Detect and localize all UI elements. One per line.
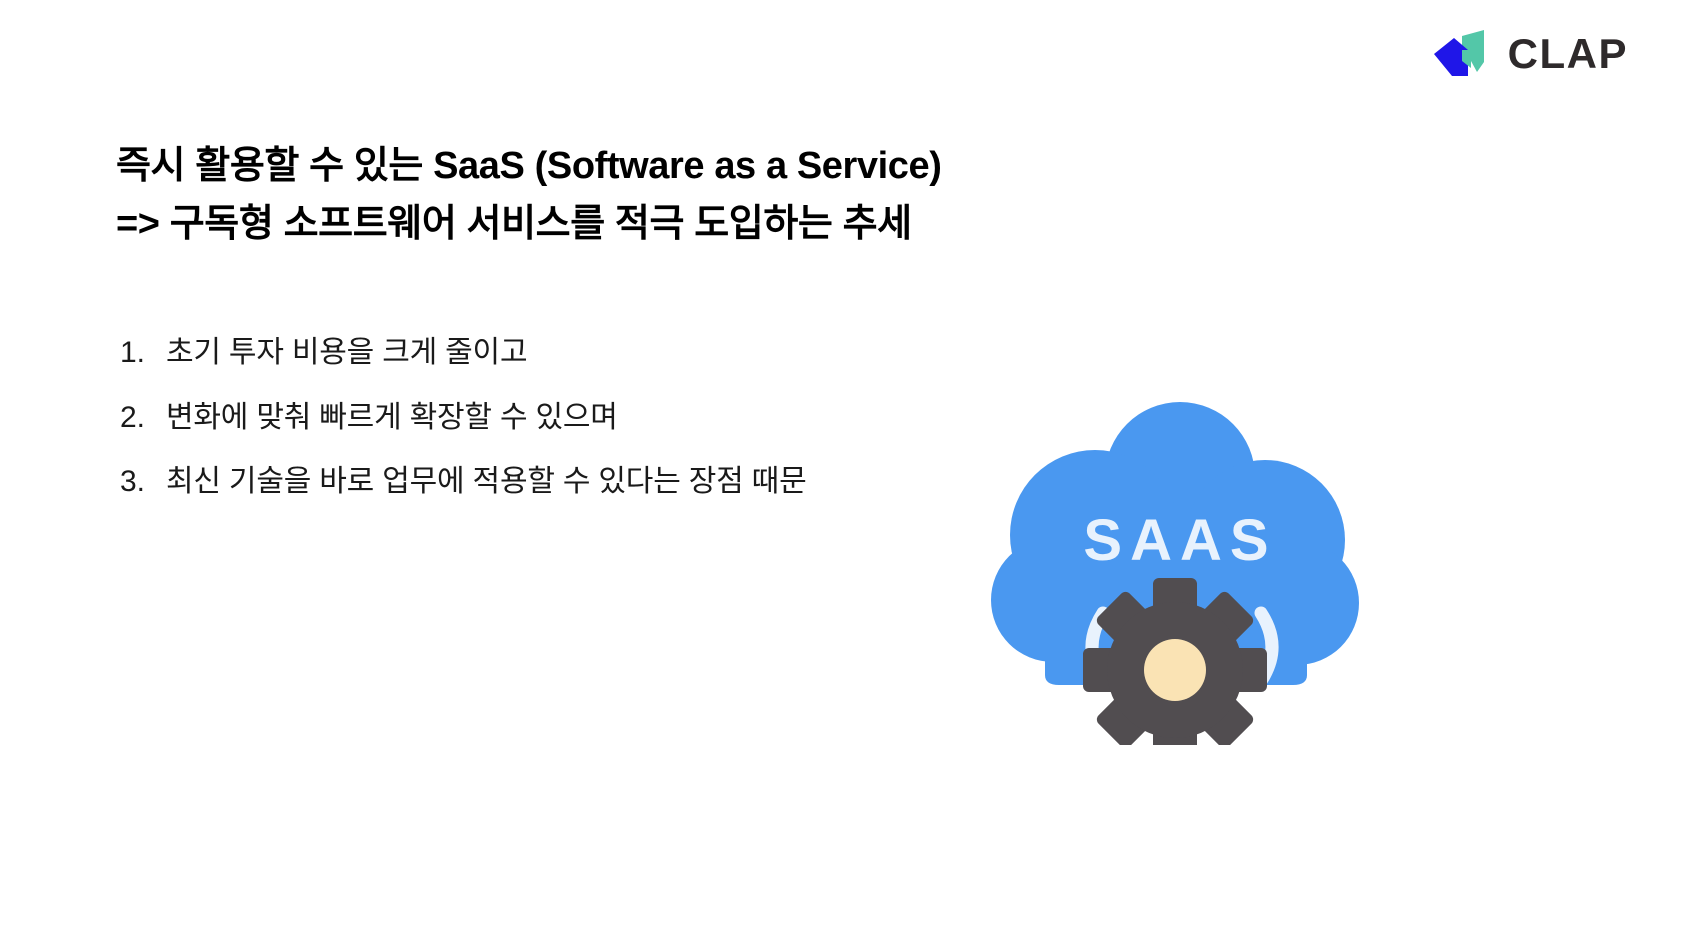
brand-name: CLAP — [1508, 33, 1628, 75]
list-item-number: 3. — [120, 461, 166, 504]
slide: CLAP 즉시 활용할 수 있는 SaaS (Software as a Ser… — [0, 0, 1684, 946]
title-line-1: 즉시 활용할 수 있는 SaaS (Software as a Service) — [116, 138, 1166, 196]
list-item-label: 변화에 맞춰 빠르게 확장할 수 있으며 — [166, 397, 618, 440]
numbered-list: 1. 초기 투자 비용을 크게 줄이고 2. 변화에 맞춰 빠르게 확장할 수 … — [120, 332, 1100, 526]
list-item: 3. 최신 기술을 바로 업무에 적용할 수 있다는 장점 때문 — [120, 461, 1100, 504]
title-line-2: => 구독형 소프트웨어 서비스를 적극 도입하는 추세 — [116, 196, 1166, 254]
list-item: 2. 변화에 맞춰 빠르게 확장할 수 있으며 — [120, 397, 1100, 440]
clap-logo-mark-icon — [1432, 28, 1494, 80]
saas-cloud-gear-icon: SAAS — [975, 385, 1375, 745]
page-title: 즉시 활용할 수 있는 SaaS (Software as a Service)… — [116, 138, 1166, 254]
list-item: 1. 초기 투자 비용을 크게 줄이고 — [120, 332, 1100, 375]
list-item-label: 초기 투자 비용을 크게 줄이고 — [166, 332, 527, 375]
gear-center — [1144, 639, 1206, 701]
brand-logo: CLAP — [1432, 28, 1628, 80]
list-item-number: 2. — [120, 397, 166, 440]
saas-label: SAAS — [1083, 508, 1276, 573]
list-item-number: 1. — [120, 332, 166, 375]
list-item-label: 최신 기술을 바로 업무에 적용할 수 있다는 장점 때문 — [166, 461, 806, 504]
